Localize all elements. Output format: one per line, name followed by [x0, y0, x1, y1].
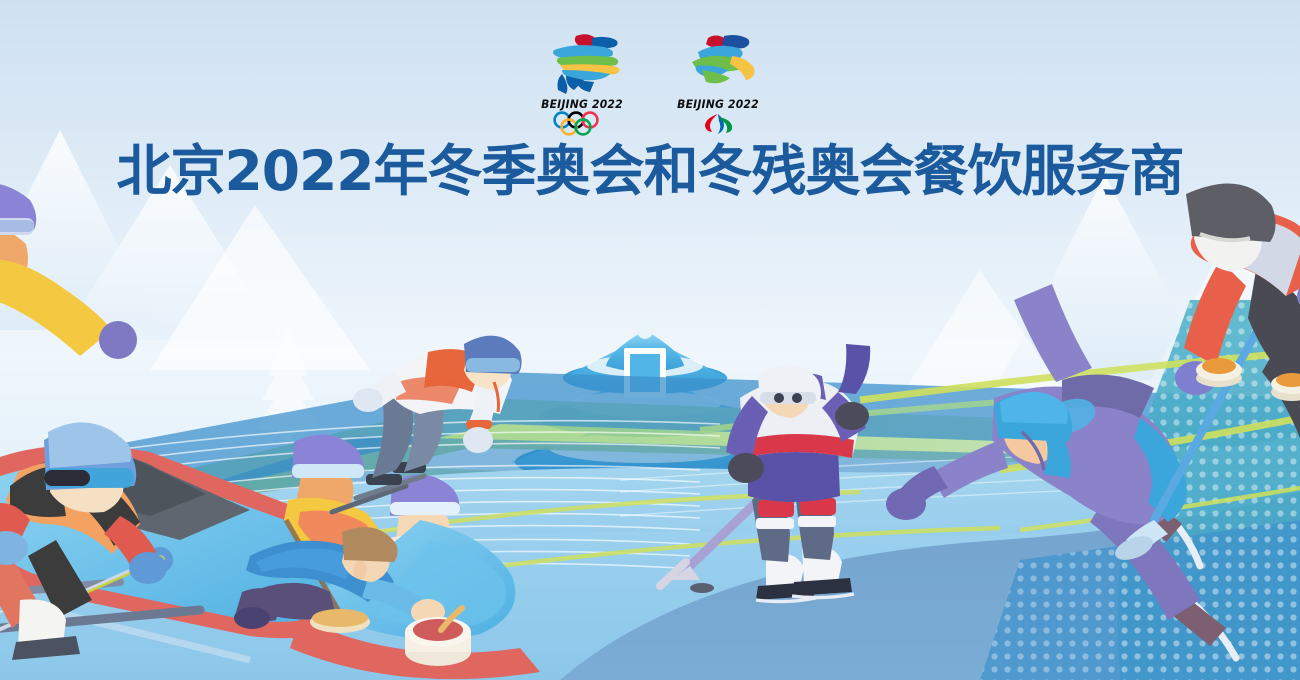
beijing-2022-paralympic-emblem: BEIJING 2022 — [672, 30, 764, 130]
beijing-2022-olympic-emblem: BEIJING 2022 — [536, 30, 628, 130]
olympic-emblem-wordmark: BEIJING 2022 — [539, 97, 625, 111]
paralympic-winter-skater-icon — [672, 30, 764, 96]
athlete-ice-hockey-player — [660, 344, 870, 602]
emblem-row: BEIJING 2022 B — [0, 30, 1300, 130]
beijing-2022-banner: BEIJING 2022 B — [0, 0, 1300, 680]
page-title: 北京2022年冬季奥会和冬残奥会餐饮服务商 — [0, 143, 1300, 201]
agitos-icon — [672, 111, 764, 137]
olympic-rings-icon — [536, 111, 628, 137]
paralympic-emblem-wordmark: BEIJING 2022 — [675, 97, 761, 111]
olympic-winter-dancer-icon — [536, 30, 628, 96]
